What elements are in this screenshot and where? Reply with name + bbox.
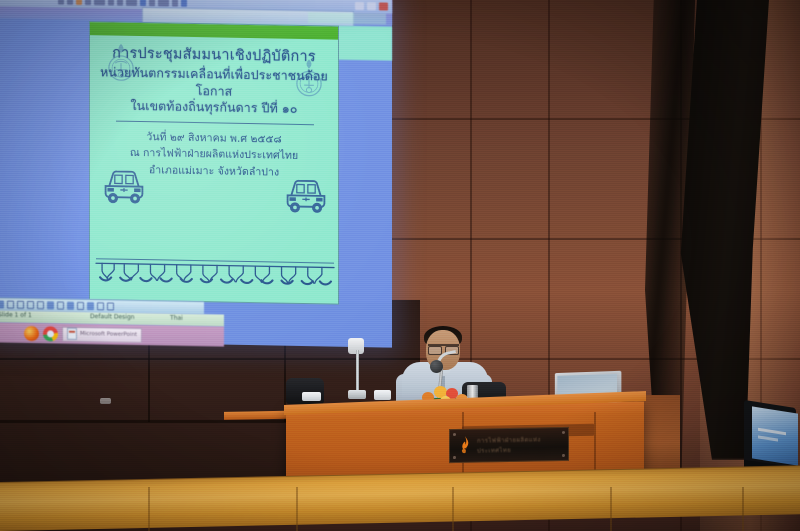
fill-color-icon[interactable] bbox=[67, 302, 74, 310]
toolbar-icon[interactable] bbox=[58, 0, 64, 4]
taskbar-item-powerpoint[interactable]: Microsoft PowerPoint bbox=[62, 326, 142, 342]
draw-menu-icon[interactable] bbox=[0, 300, 4, 308]
toolbar-icon[interactable] bbox=[140, 0, 146, 6]
toolbar-icon[interactable] bbox=[85, 0, 91, 5]
slide-title-line-3: ในเขตท้องถิ่นทุรกันดาร ปีที่ ๑๐ bbox=[90, 97, 338, 118]
toolbar-icon[interactable] bbox=[126, 0, 137, 5]
3d-style-icon[interactable] bbox=[107, 302, 114, 310]
close-icon[interactable] bbox=[379, 2, 388, 10]
slide-title-block: การประชุมสัมมนาเชิงปฏิบัติการ หน่วยทันตก… bbox=[90, 44, 338, 118]
toolbar-icon[interactable] bbox=[76, 0, 82, 4]
document-tab[interactable] bbox=[308, 12, 386, 24]
microphone-icon bbox=[430, 360, 443, 373]
presentation-slide[interactable]: การประชุมสัมมนาเชิงปฏิบัติการ หน่วยทันตก… bbox=[89, 21, 339, 305]
conference-hall-scene: การประชุมสัมมนาเชิงปฏิบัติการ หน่วยทันตก… bbox=[0, 0, 800, 531]
line-color-icon[interactable] bbox=[77, 302, 84, 310]
minimize-button[interactable] bbox=[355, 2, 364, 10]
textbox-icon[interactable] bbox=[47, 301, 54, 309]
windows-taskbar[interactable]: Microsoft PowerPoint bbox=[0, 322, 224, 346]
toolbar-icon[interactable] bbox=[67, 0, 73, 4]
slide-top-band bbox=[90, 22, 338, 40]
oval-icon[interactable] bbox=[37, 301, 44, 309]
projection-screen: การประชุมสัมมนาเชิงปฏิบัติการ หน่วยทันตก… bbox=[0, 0, 392, 348]
decorative-line-art-border-icon bbox=[94, 257, 336, 297]
status-language-label: Thai bbox=[170, 315, 183, 322]
status-design-label: Default Design bbox=[90, 313, 135, 321]
toolbar-icon[interactable] bbox=[94, 0, 105, 5]
toolbar-icon[interactable] bbox=[172, 0, 178, 6]
toolbar-icon[interactable] bbox=[117, 0, 123, 5]
status-slide-indicator: Slide 1 of 1 bbox=[0, 311, 32, 319]
line-icon[interactable] bbox=[17, 301, 24, 309]
chrome-icon[interactable] bbox=[43, 326, 58, 341]
podium-plaque: การไฟฟ้าฝ่ายผลิตแห่งประเทศไทย bbox=[449, 427, 569, 463]
plaque-label: การไฟฟ้าฝ่ายผลิตแห่งประเทศไทย bbox=[477, 434, 568, 456]
shadow-style-icon[interactable] bbox=[97, 302, 104, 310]
rectangle-icon[interactable] bbox=[27, 301, 34, 309]
restore-button[interactable] bbox=[367, 2, 376, 10]
white-object bbox=[374, 390, 391, 400]
wordart-icon[interactable] bbox=[57, 302, 64, 310]
select-arrow-icon[interactable] bbox=[7, 301, 14, 309]
device-base bbox=[348, 390, 366, 399]
mobile-dental-unit-truck-icon bbox=[280, 168, 332, 215]
slide-title-line-2: หน่วยทันตกรรมเคลื่อนที่เพื่อประชาชนด้อยโ… bbox=[90, 64, 338, 101]
taskbar-item-label: Microsoft PowerPoint bbox=[80, 331, 137, 338]
toolbar-icon[interactable] bbox=[149, 0, 155, 6]
white-object bbox=[302, 392, 321, 401]
font-color-icon[interactable] bbox=[87, 302, 94, 310]
egat-flame-logo-icon bbox=[458, 435, 472, 457]
firefox-icon[interactable] bbox=[24, 325, 39, 340]
device-stand bbox=[356, 350, 359, 394]
mobile-dental-unit-truck-icon bbox=[98, 158, 150, 205]
slide-divider bbox=[116, 121, 314, 126]
toolbar-icon[interactable] bbox=[181, 0, 187, 6]
window-controls[interactable] bbox=[355, 2, 388, 11]
toolbar-icon[interactable] bbox=[108, 0, 114, 5]
powerpoint-icon bbox=[67, 328, 77, 340]
toolbar-icon[interactable] bbox=[158, 0, 169, 6]
